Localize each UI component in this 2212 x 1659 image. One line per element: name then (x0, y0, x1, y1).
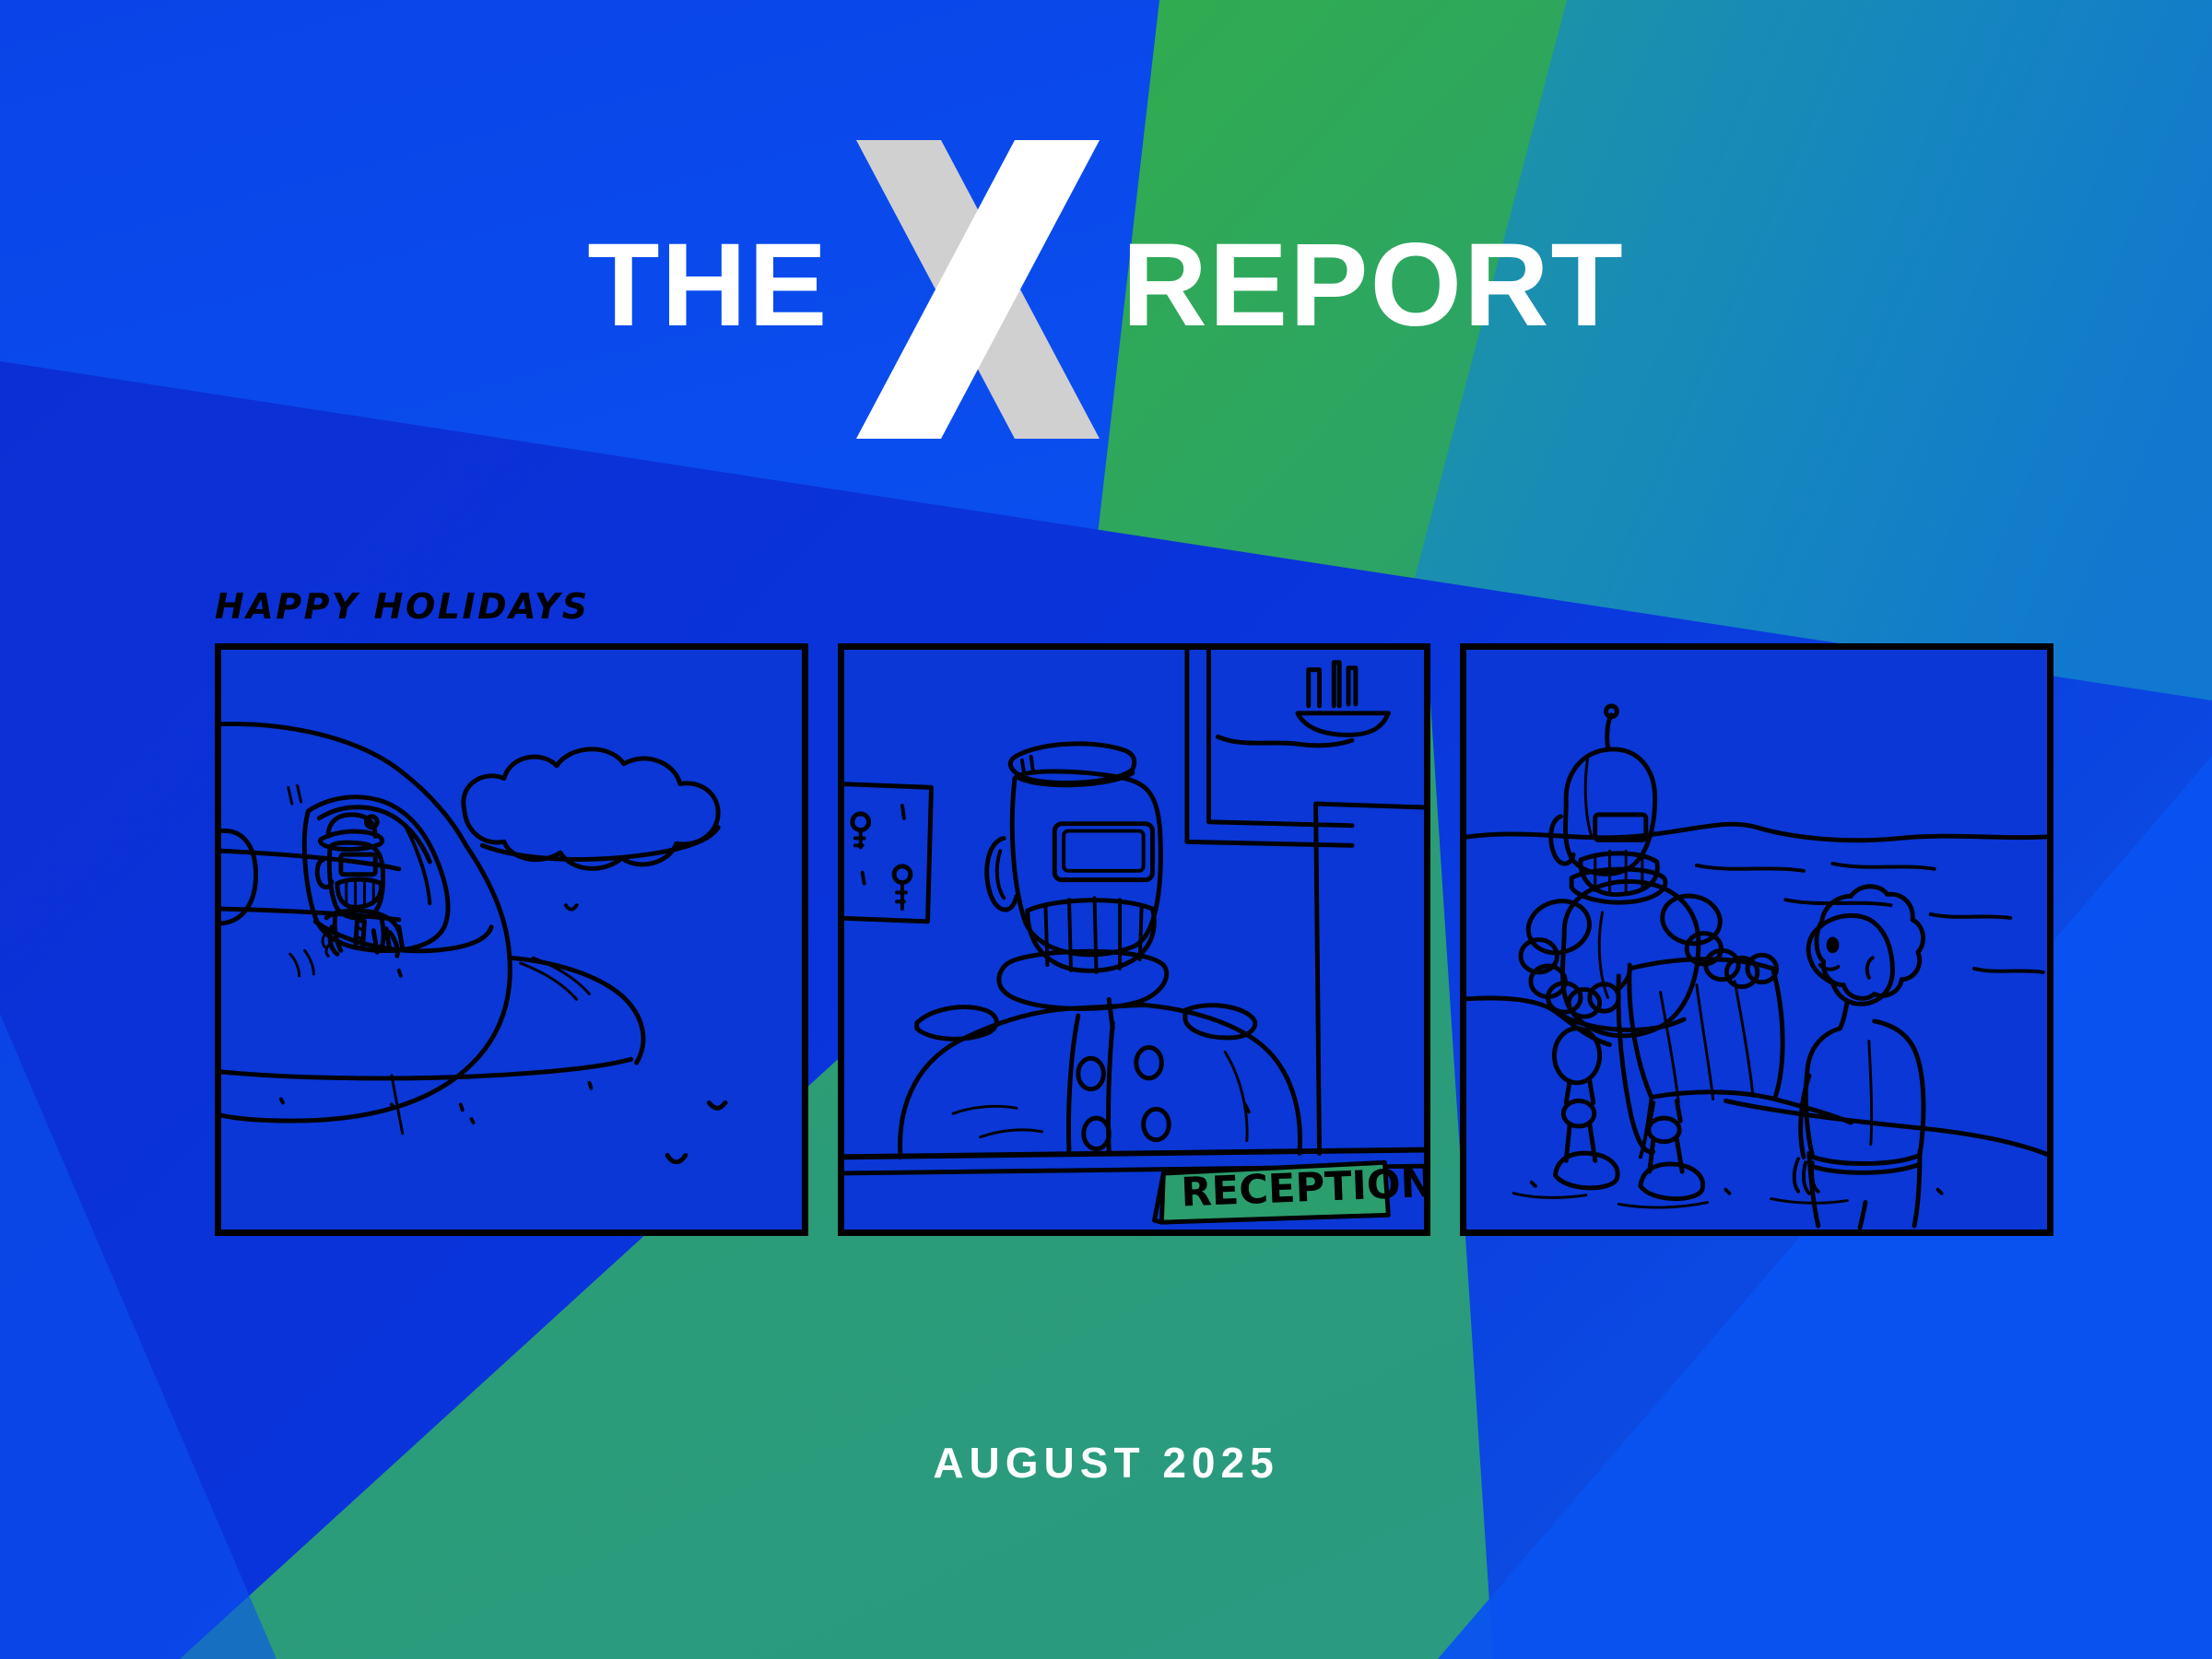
boy-torso (1806, 1021, 1924, 1164)
belly-line (221, 1059, 631, 1078)
sand-line-2 (1619, 1203, 1708, 1208)
towel-fold-1 (1661, 993, 1679, 1103)
boy-shorts-split (1860, 1203, 1865, 1229)
shoreline-left (1466, 998, 1609, 1045)
sand-line-3 (1771, 1199, 1848, 1204)
wave-2 (1833, 864, 1935, 869)
harness-right (381, 916, 383, 950)
key-1 (854, 831, 864, 848)
towel-fold-2 (1697, 985, 1713, 1100)
bird-2 (709, 1102, 725, 1108)
reception-sign-label: RECEPTION (1180, 1160, 1424, 1216)
sand-line-1 (1514, 1194, 1587, 1198)
key-hook-1 (853, 814, 869, 830)
comic-panel-3[interactable] (1460, 643, 2053, 1236)
wall-return (1315, 804, 1424, 1153)
robot-head-seam (1586, 757, 1593, 836)
robot-shoulder-left (1523, 894, 1595, 959)
speed-lines-upper (288, 785, 301, 804)
comic-strip: RECEPTION (215, 643, 2053, 1236)
key-hook-2 (894, 866, 911, 883)
robot-antenna (1607, 715, 1612, 747)
robot-antenna-tip (1606, 706, 1618, 717)
comic-caption: HAPPY HOLIDAYS (215, 586, 590, 627)
boy-hand-fingers (1794, 1159, 1818, 1193)
boy-shirt-seam (1869, 1041, 1872, 1145)
speed-lines-lower (290, 950, 314, 976)
shoreline-right (1726, 1100, 2047, 1157)
hat-stitch (1022, 757, 1033, 771)
bird-3 (667, 1155, 686, 1161)
robot-leg-left (1555, 1029, 1618, 1188)
wave-5 (1974, 969, 2043, 972)
key-2 (897, 884, 906, 910)
epaulette-left (916, 1007, 996, 1040)
towel-fold-3 (1735, 982, 1754, 1096)
boat-hull (1298, 713, 1388, 735)
boat-masts (1308, 663, 1355, 706)
boy-ear (1867, 958, 1873, 978)
boy-eye (1827, 937, 1840, 954)
panel-3-artwork (1466, 650, 2047, 1230)
fuselage-top (221, 724, 466, 845)
counter-top (844, 1150, 1425, 1158)
robot-leg-right (1641, 1100, 1703, 1198)
wave-1 (1697, 865, 1804, 871)
key-board (844, 783, 931, 921)
comic-panel-2[interactable]: RECEPTION (838, 643, 1431, 1236)
wave-4 (1931, 914, 2011, 918)
comic-panel-1[interactable] (215, 643, 808, 1236)
bellhop-ear-inner (996, 851, 1003, 898)
newsletter-cover: THE REPORT HAPPY HOLIDAYS (0, 0, 2212, 1659)
boy-neck (1841, 1001, 1848, 1028)
rivet-marks (281, 971, 591, 1123)
panel-1-artwork (221, 650, 802, 1230)
nose-lower (510, 958, 643, 1063)
issue-date: AUGUST 2025 (0, 1438, 2212, 1488)
bird-1 (566, 905, 577, 909)
boy-mouth (1820, 965, 1839, 970)
panel-2-artwork: RECEPTION (844, 650, 1425, 1230)
